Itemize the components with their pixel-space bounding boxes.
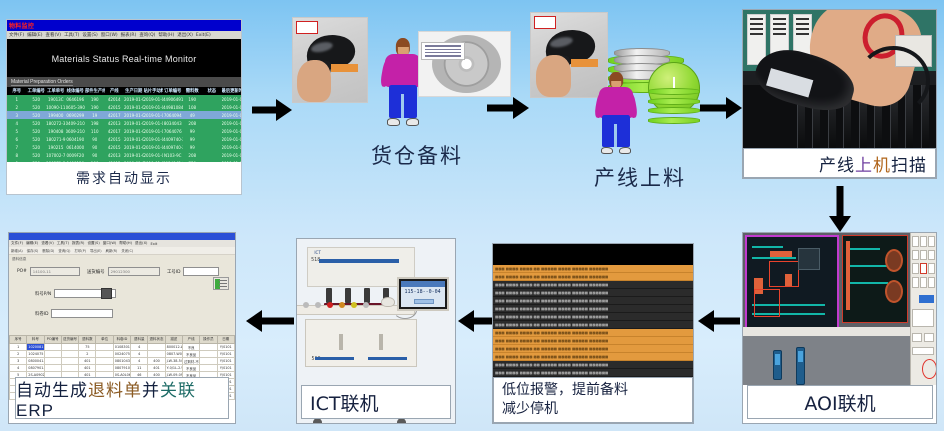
materials-cell-qty: 99 <box>183 143 203 151</box>
materials-cell-line: 0409-2100 <box>66 119 86 127</box>
aoi-caption: AOI联机 <box>747 385 933 419</box>
alarm-row-highlighted[interactable]: ▩▩▩ ▩▩▩▩ ▩▩▩▩ ▩▩ ▩▩▩▩▩ ▩▩▩▩ ▩▩▩▩▩ ▩▩▩▩▩▩ <box>493 329 693 337</box>
alarm-row[interactable]: ▩▩▩ ▩▩▩▩ ▩▩▩▩ ▩▩ ▩▩▩▩▩ ▩▩▩▩ ▩▩▩▩▩ ▩▩▩▩▩▩ <box>493 361 693 369</box>
materials-cell-qty: 750 <box>183 159 203 162</box>
erp-caption-part-4: ERP <box>16 401 54 420</box>
materials-col-11: 最后更新时间 <box>222 87 242 95</box>
erp-cell-10: 不良品 <box>182 351 199 358</box>
panel-demand-display: 物料监控 文件(F)编辑(E)查看(V)工具(T)设置(S)窗口(W)报表(R)… <box>6 19 242 195</box>
materials-table-row[interactable]: 6520180271-9060419090420152019-01-072019… <box>7 135 241 143</box>
materials-cell-line: 0614000 <box>66 143 86 151</box>
aoi-control-sidebar[interactable] <box>910 233 936 385</box>
erp-caption-part-2: 并 <box>142 381 160 400</box>
erp-cell-12: Y/0101 <box>217 351 234 358</box>
erp-cell-4: 75 <box>79 344 96 351</box>
materials-col-3: 线体编号 <box>66 87 86 95</box>
materials-cell-line: 0604190 <box>66 135 86 143</box>
materials-cell-ln: 42013 <box>105 119 125 127</box>
materials-cell-wo: 520 <box>27 103 47 111</box>
erp-menu-item-0[interactable]: 文件(F) <box>11 241 23 246</box>
monitor-menu-item-6[interactable]: 报表(R) <box>121 32 137 38</box>
materials-cell-ln: 42017 <box>105 111 125 119</box>
materials-cell-pn: 2019-01-08(19)W <box>144 159 164 162</box>
erp-menu-item-7[interactable]: 帮助(H) <box>119 241 132 246</box>
materials-cell-no: 6 <box>7 135 27 143</box>
erp-cell-5 <box>96 344 113 351</box>
materials-cell-no: 7 <box>7 143 27 151</box>
erp-menu-item-4[interactable]: 报表(R) <box>72 241 85 246</box>
erp-cell-1: 1020081 <box>27 344 44 351</box>
erp-cell-7: 4 <box>131 351 148 358</box>
barcode-label <box>571 59 598 67</box>
alarm-row[interactable]: ▩▩▩ ▩▩▩▩ ▩▩▩▩ ▩▩ ▩▩▩▩▩ ▩▩▩▩ ▩▩▩▩▩ ▩▩▩▩▩▩ <box>493 305 693 313</box>
monitor-menu-item-0[interactable]: 文件(F) <box>9 32 24 38</box>
erp-cell-8 <box>148 344 165 351</box>
erp-toolbar-button-0[interactable]: 新增(A) <box>11 248 23 253</box>
materials-cell-date: 2019-01-07 <box>124 103 144 111</box>
field-worker-id-input[interactable] <box>183 267 219 276</box>
erp-cell-6: 0807910 <box>113 365 130 372</box>
materials-cell-no: 5 <box>7 127 27 135</box>
erp-cell-2 <box>44 358 61 365</box>
line-feeding-caption: 产线上料 <box>570 162 710 192</box>
materials-table: 序号工单编号工单单号线体编号部件生产线产线生产日期贴片手动料号订单编号需料数状态… <box>7 87 241 162</box>
materials-cell-pn: 2019-01-07(18)K <box>144 143 164 151</box>
alarm-row-text: ▩▩▩ ▩▩▩▩ ▩▩▩▩ ▩▩ ▩▩▩▩▩ ▩▩▩▩ ▩▩▩▩▩ ▩▩▩▩▩▩ <box>493 355 608 359</box>
materials-cell-line: 0009F20 <box>66 151 86 159</box>
alarm-row[interactable]: ▩▩▩ ▩▩▩▩ ▩▩▩▩ ▩▩ ▩▩▩▩▩ ▩▩▩▩ ▩▩▩▩▩ ▩▩▩▩▩▩ <box>493 297 693 305</box>
erp-toolbar-button-4[interactable]: 打印(P) <box>75 248 86 253</box>
erp-col-10: 产线 <box>182 336 199 344</box>
erp-cell-2 <box>44 351 61 358</box>
materials-table-row[interactable]: 4520180272-30409-2100198420132019-01-082… <box>7 119 241 127</box>
materials-cell-line: 0690299 <box>66 111 86 119</box>
erp-table-row[interactable]: 30800041-7040740108010434400J-W-38-548过剩… <box>10 358 235 365</box>
erp-cell-8: 400 <box>148 358 165 365</box>
alarm-row[interactable]: ▩▩▩ ▩▩▩▩ ▩▩▩▩ ▩▩ ▩▩▩▩▩ ▩▩▩▩ ▩▩▩▩▩ ▩▩▩▩▩▩ <box>493 369 693 377</box>
erp-toolbar-button-6[interactable]: 刷新(R) <box>106 248 118 253</box>
materials-cell-wono: 107002-7 <box>46 151 66 159</box>
materials-cell-pn: 2019-01-08(9)W <box>144 119 164 127</box>
materials-table-row[interactable]: 7520190215061400090420152019-01-072019-0… <box>7 143 241 151</box>
field-po-label: PO# <box>17 269 27 274</box>
operator-hand <box>297 60 331 102</box>
alarm-row[interactable] <box>493 258 693 265</box>
erp-col-11: 操作员 <box>200 336 217 344</box>
erp-menu-item-3[interactable]: 工具(T) <box>57 241 69 246</box>
alarm-row[interactable]: ▩▩▩ ▩▩▩▩ ▩▩▩▩ ▩▩ ▩▩▩▩▩ ▩▩▩▩ ▩▩▩▩▩ ▩▩▩▩▩▩ <box>493 313 693 321</box>
materials-cell-order: 4409740-26-1 <box>163 135 183 143</box>
materials-cell-no: 3 <box>7 111 27 119</box>
erp-col-2: PO编号 <box>44 336 61 344</box>
materials-cell-order: 8034043-9 <box>163 159 183 162</box>
monitor-menu-item-9[interactable]: 退出(X) <box>177 32 193 38</box>
operator-hand <box>536 55 571 97</box>
materials-table-row[interactable]: 9520180271-30409130190420122019-01-08201… <box>7 159 241 162</box>
materials-cell-date: 2019-01-07 <box>124 127 144 135</box>
warehouse-prep-caption-text: 货仓备料 <box>371 144 463 168</box>
materials-cell-wo: 520 <box>27 95 47 103</box>
materials-cell-pline: 190 <box>85 95 105 103</box>
field-po-input[interactable]: 14100-11 <box>30 267 80 276</box>
erp-titlebar <box>9 233 235 240</box>
monitor-section-label: Material Preparation Orders <box>11 79 73 86</box>
erp-cell-12: Y/0101 <box>217 365 234 372</box>
materials-cell-qty: 208 <box>183 119 203 127</box>
materials-cell-wono: 19013C <box>46 95 66 103</box>
materials-table-row[interactable]: 252010090-110605-390190420152019-01-0720… <box>7 103 241 111</box>
materials-cell-ln: 42015 <box>105 103 125 111</box>
demand-display-caption: 需求自动显示 <box>7 162 241 194</box>
materials-col-5: 产线 <box>105 87 125 95</box>
ict-monitor-text: 115-18--0-04 <box>405 289 441 295</box>
materials-cell-qty: 108 <box>183 103 203 111</box>
materials-cell-order: 7064076 <box>163 127 183 135</box>
ict-caption-text: ICT联机 <box>310 389 378 416</box>
materials-col-1: 工单编号 <box>27 87 47 95</box>
ict-mouse <box>381 297 395 307</box>
field-reel-id-input[interactable] <box>51 309 113 318</box>
monitor-menu-item-2[interactable]: 查看(V) <box>45 32 61 38</box>
erp-form-area: 退料信息 PO# 14100-11 送货编号 29012300 工号ID 料号P… <box>9 255 235 335</box>
materials-cell-pn: 2019-01-07(19)C <box>144 135 164 143</box>
materials-cell-qty: 190 <box>183 95 203 103</box>
erp-cell-0: 3 <box>10 358 27 365</box>
materials-cell-wono: 180272-3 <box>46 119 66 127</box>
monitor-window-title: 物料监控 <box>9 21 34 30</box>
monitor-menu-item-4[interactable]: 设置(S) <box>82 32 97 38</box>
materials-cell-wo: 520 <box>27 151 47 159</box>
alarm-row-text: ▩▩▩ ▩▩▩▩ ▩▩▩▩ ▩▩ ▩▩▩▩▩ ▩▩▩▩ ▩▩▩▩▩ ▩▩▩▩▩▩ <box>493 267 608 271</box>
erp-cell-3 <box>61 351 78 358</box>
erp-menubar[interactable]: 文件(F)编辑(E)查看(V)工具(T)报表(R)设置(S)窗口(W)帮助(H)… <box>9 240 235 247</box>
field-part-number-label: 料号P/N <box>35 291 51 297</box>
materials-table-row[interactable]: 3520199400069029919420172019-01-072019-0… <box>7 111 241 119</box>
erp-toolbar-button-3[interactable]: 查询(Q) <box>58 248 70 253</box>
materials-cell-pline: 110 <box>85 127 105 135</box>
erp-table-row[interactable]: 40807901-W14-33401080791011401Y-0/1L-2-W… <box>10 365 235 372</box>
erp-toolbar-button-1[interactable]: 保存(S) <box>27 248 39 253</box>
alarm-row-highlighted[interactable]: ▩▩▩ ▩▩▩▩ ▩▩▩▩ ▩▩ ▩▩▩▩▩ ▩▩▩▩ ▩▩▩▩▩ ▩▩▩▩▩▩ <box>493 265 693 273</box>
panel-aoi: AOI联机 <box>742 232 937 424</box>
line-scan-caption-part-3: 扫描 <box>891 156 927 176</box>
materials-table-header-row: 序号工单编号工单单号线体编号部件生产线产线生产日期贴片手动料号订单编号需料数状态… <box>7 87 241 95</box>
materials-cell-pline: 190 <box>85 159 105 162</box>
erp-cell-9: 800012-W01-048 <box>165 344 182 351</box>
scanner-cord <box>857 46 931 115</box>
alarm-caption-line2: 减少停机 <box>502 400 558 419</box>
materials-cell-upd: 2019-01-07 15:24:45 <box>222 119 242 127</box>
line-scan-caption-part-1: 上 <box>855 156 873 176</box>
monitor-menubar[interactable]: 文件(F)编辑(E)查看(V)工具(T)设置(S)窗口(W)报表(R)查询(Q)… <box>7 31 241 39</box>
materials-table-row[interactable]: 152019013C0646196190420142019-01-072019-… <box>7 95 241 103</box>
materials-col-8: 订单编号 <box>163 87 183 95</box>
field-worker-id-label: 工号ID <box>167 269 180 275</box>
monitor-menu-item-7[interactable]: 查询(Q) <box>139 32 155 38</box>
materials-cell-st <box>202 143 222 151</box>
materials-cell-ln: 42017 <box>105 127 125 135</box>
materials-cell-date: 2019-01-07 <box>124 135 144 143</box>
monitor-board-title: Materials Status Real-time Monitor <box>7 39 241 64</box>
materials-cell-pline: 90 <box>85 143 105 151</box>
materials-cell-date: 2019-01-07 <box>124 143 144 151</box>
alarm-row-text: ▩▩▩ ▩▩▩▩ ▩▩▩▩ ▩▩ ▩▩▩▩▩ ▩▩▩▩ ▩▩▩▩▩ ▩▩▩▩▩▩ <box>493 371 608 375</box>
field-reel-id-label: 料卷ID <box>35 311 48 317</box>
monitor-menu-item-3[interactable]: 工具(T) <box>64 32 79 38</box>
materials-cell-qty: 99 <box>183 135 203 143</box>
alarm-row-text: ▩▩▩ ▩▩▩▩ ▩▩▩▩ ▩▩ ▩▩▩▩▩ ▩▩▩▩ ▩▩▩▩▩ ▩▩▩▩▩▩ <box>493 275 608 279</box>
alarm-row-text: ▩▩▩ ▩▩▩▩ ▩▩▩▩ ▩▩ ▩▩▩▩▩ ▩▩▩▩ ▩▩▩▩▩ ▩▩▩▩▩▩ <box>493 307 608 311</box>
erp-col-9: 描述 <box>165 336 182 344</box>
materials-cell-qty: 99 <box>183 127 203 135</box>
aoi-caption-text: AOI联机 <box>804 389 875 416</box>
field-worker-id[interactable]: 工号ID <box>167 267 219 276</box>
materials-cell-wono: 190215 <box>46 143 66 151</box>
materials-cell-st <box>202 127 222 135</box>
materials-cell-wono: 180271-9 <box>46 135 66 143</box>
erp-menu-item-5[interactable]: 设置(S) <box>87 241 99 246</box>
materials-table-row[interactable]: 55201904080609-2100110420172019-01-07201… <box>7 127 241 135</box>
erp-toolbar-button-7[interactable]: 关闭(C) <box>121 248 133 253</box>
alarm-row[interactable]: ▩▩▩ ▩▩▩▩ ▩▩▩▩ ▩▩ ▩▩▩▩▩ ▩▩▩▩ ▩▩▩▩▩ ▩▩▩▩▩▩ <box>493 289 693 297</box>
monitor-menu-item-8[interactable]: 帮助(H) <box>158 32 174 38</box>
erp-col-0: 序号 <box>10 336 27 344</box>
erp-cell-11 <box>200 344 217 351</box>
materials-cell-st <box>202 151 222 159</box>
materials-cell-no: 4 <box>7 119 27 127</box>
alarm-row-text: ▩▩▩ ▩▩▩▩ ▩▩▩▩ ▩▩ ▩▩▩▩▩ ▩▩▩▩ ▩▩▩▩▩ ▩▩▩▩▩▩ <box>493 291 608 295</box>
materials-cell-ln: 42015 <box>105 143 125 151</box>
line-scan-caption-part-0: 产线 <box>819 156 855 176</box>
erp-col-3: 送货编号 <box>61 336 78 344</box>
highlight-ellipse <box>922 359 937 379</box>
reel-label <box>421 42 465 59</box>
erp-toolbar[interactable]: 新增(A)保存(S)删除(D)查询(Q)打印(P)导出(E)刷新(R)关闭(C) <box>9 247 235 255</box>
erp-table-row[interactable]: 210240752002407540807-W05不良品Y/0101 <box>10 351 235 358</box>
erp-menu-item-6[interactable]: 窗口(W) <box>103 241 117 246</box>
line-scan-caption: 产线上机扫描 <box>743 148 936 178</box>
barcode-label <box>331 64 358 72</box>
erp-cell-0: 4 <box>10 365 27 372</box>
materials-cell-ln: 42014 <box>105 95 125 103</box>
materials-cell-no: 8 <box>7 151 27 159</box>
alarm-row-text: ▩▩▩ ▩▩▩▩ ▩▩▩▩ ▩▩ ▩▩▩▩▩ ▩▩▩▩ ▩▩▩▩▩ ▩▩▩▩▩▩ <box>493 331 608 335</box>
monitor-menu-item-10[interactable]: Exit(E) <box>196 33 211 38</box>
materials-cell-st <box>202 159 222 162</box>
materials-col-0: 序号 <box>7 87 27 95</box>
materials-cell-wo: 520 <box>27 127 47 135</box>
materials-cell-ln: 42015 <box>105 135 125 143</box>
erp-toolbar-button-2[interactable]: 删除(D) <box>42 248 54 253</box>
erp-caption-part-0: 自动生成 <box>16 381 88 400</box>
materials-cell-no: 2 <box>7 103 27 111</box>
erp-menu-item-8[interactable]: 退出(X) <box>135 241 147 246</box>
materials-cell-qty: 208 <box>183 151 203 159</box>
materials-cell-ln: 42012 <box>105 159 125 162</box>
materials-cell-pn: 2019-01-07(16) <box>144 127 164 135</box>
erp-col-7: 退料量 <box>131 336 148 344</box>
part-number-lookup-button[interactable] <box>101 288 112 299</box>
materials-cell-wo: 520 <box>27 111 47 119</box>
materials-cell-pn: 2019-01-08(17)(9) <box>144 151 164 159</box>
erp-col-4: 退料数 <box>79 336 96 344</box>
ict-machine-brand: ICT <box>314 250 320 255</box>
erp-cell-0: 1 <box>10 344 27 351</box>
alarm-row-text: ▩▩▩ ▩▩▩▩ ▩▩▩▩ ▩▩ ▩▩▩▩▩ ▩▩▩▩ ▩▩▩▩▩ ▩▩▩▩▩▩ <box>493 315 608 319</box>
erp-cell-2 <box>44 344 61 351</box>
erp-cell-6: 0801043 <box>113 358 130 365</box>
alarm-row-highlighted[interactable]: ▩▩▩ ▩▩▩▩ ▩▩▩▩ ▩▩ ▩▩▩▩▩ ▩▩▩▩ ▩▩▩▩▩ ▩▩▩▩▩▩ <box>493 353 693 361</box>
materials-col-10: 状态 <box>202 87 222 95</box>
erp-cell-12: Y/0101 <box>217 344 234 351</box>
materials-cell-order: 4490649156-1 <box>163 95 183 103</box>
materials-table-body: 152019013C0646196190420142019-01-072019-… <box>7 95 241 162</box>
line-scan-photo <box>743 10 936 148</box>
materials-cell-upd: 2019-01-07 14:19:45 <box>222 143 242 151</box>
materials-cell-ln: 42013 <box>105 151 125 159</box>
erp-caption-part-1: 退料单 <box>88 381 142 400</box>
materials-col-6: 生产日期 <box>124 87 144 95</box>
erp-cell-10: 不良 <box>182 344 199 351</box>
field-reel-id[interactable]: 料卷ID <box>35 309 113 318</box>
erp-cell-11 <box>200 351 217 358</box>
erp-menu-item-9[interactable]: Exit <box>150 242 157 246</box>
alarm-row[interactable] <box>493 244 693 251</box>
green-coin-stack <box>648 88 700 132</box>
arrow-down-scan-to-aoi <box>825 186 855 232</box>
warehouse-prep-caption: 货仓备料 <box>352 140 482 170</box>
arrow-left-aoi-to-alarm <box>698 310 740 332</box>
erp-cell-11 <box>200 365 217 372</box>
materials-cell-st <box>202 95 222 103</box>
materials-col-4: 部件生产线 <box>85 87 105 95</box>
erp-cell-11 <box>200 358 217 365</box>
component-reel-photo <box>418 31 511 97</box>
field-delivery-no[interactable]: 送货编号 29012300 <box>87 267 160 276</box>
panel-low-stock-alarm: ▩▩▩ ▩▩▩▩ ▩▩▩▩ ▩▩ ▩▩▩▩▩ ▩▩▩▩ ▩▩▩▩▩ ▩▩▩▩▩▩… <box>492 243 694 424</box>
low-stock-alarm-caption: 低位报警，提前备料 减少停机 <box>493 377 693 423</box>
materials-cell-no: 1 <box>7 95 27 103</box>
erp-col-12: 日期 <box>217 336 234 344</box>
erp-cell-1: 0800041-70407 <box>27 358 44 365</box>
materials-col-9: 需料数 <box>183 87 203 95</box>
line-feeding-caption-text: 产线上料 <box>594 166 686 190</box>
materials-cell-date: 2019-01-07 <box>124 95 144 103</box>
erp-table-row[interactable]: 110200817501083014800012-W01-048不良Y/0101 <box>10 344 235 351</box>
erp-caption: 自动生成退料单并关联ERP <box>15 377 229 419</box>
materials-cell-date: 2019-01-08 <box>124 151 144 159</box>
ict-caption: ICT联机 <box>301 385 451 419</box>
monitor-menu-item-5[interactable]: 窗口(W) <box>101 32 118 38</box>
erp-cell-0: 2 <box>10 351 27 358</box>
alarm-row-highlighted[interactable]: ▩▩▩ ▩▩▩▩ ▩▩▩▩ ▩▩ ▩▩▩▩▩ ▩▩▩▩ ▩▩▩▩▩ ▩▩▩▩▩▩ <box>493 345 693 353</box>
materials-cell-st <box>202 119 222 127</box>
low-stock-alarm-table: ▩▩▩ ▩▩▩▩ ▩▩▩▩ ▩▩ ▩▩▩▩▩ ▩▩▩▩ ▩▩▩▩▩ ▩▩▩▩▩▩… <box>493 244 693 377</box>
pcb-image-left <box>745 235 840 332</box>
erp-cell-3 <box>61 358 78 365</box>
alarm-row-text: ▩▩▩ ▩▩▩▩ ▩▩▩▩ ▩▩ ▩▩▩▩▩ ▩▩▩▩ ▩▩▩▩▩ ▩▩▩▩▩▩ <box>493 323 608 327</box>
erp-cell-5 <box>96 358 113 365</box>
warehouse-scanner-photo <box>292 17 368 103</box>
erp-cell-8: 401 <box>148 365 165 372</box>
pcb-image-right <box>842 235 908 323</box>
erp-cell-4: 2 <box>79 351 96 358</box>
materials-cell-order: 4498108486-1 <box>163 103 183 111</box>
erp-cell-12: Y/0101 <box>217 358 234 365</box>
materials-cell-wono: 10090-11 <box>46 103 66 111</box>
alarm-row[interactable] <box>493 251 693 258</box>
save-disk-icon[interactable] <box>213 277 229 290</box>
erp-cell-5 <box>96 365 113 372</box>
alarm-row-text: ▩▩▩ ▩▩▩▩ ▩▩▩▩ ▩▩ ▩▩▩▩▩ ▩▩▩▩ ▩▩▩▩▩ ▩▩▩▩▩▩ <box>493 339 608 343</box>
materials-cell-wo: 520 <box>27 143 47 151</box>
erp-cell-7: 11 <box>131 365 148 372</box>
erp-cell-9: 0807-W05 <box>165 351 182 358</box>
materials-table-row[interactable]: 8520107002-70009F2090420132019-01-082019… <box>7 151 241 159</box>
erp-menu-item-2[interactable]: 查看(V) <box>41 241 53 246</box>
materials-col-2: 工单单号 <box>46 87 66 95</box>
erp-cell-3 <box>61 365 78 372</box>
erp-cell-6: 0108301 <box>113 344 130 351</box>
materials-cell-upd: 2019-01-07 14:19:45 <box>222 135 242 143</box>
materials-cell-order: N103-9C <box>163 151 183 159</box>
erp-cell-6: 0024075 <box>113 351 130 358</box>
ict-monitor-button[interactable] <box>414 299 433 305</box>
erp-toolbar-button-5[interactable]: 导出(E) <box>90 248 102 253</box>
materials-cell-qty: 49 <box>183 111 203 119</box>
erp-cell-4: 401 <box>79 365 96 372</box>
erp-cell-9: Y-0/1L-2-W-09-1-W-048 <box>165 365 182 372</box>
materials-cell-line: 0609-2100 <box>66 127 86 135</box>
panel-ict: ICT 518 518 115-18--0-04 ICT联 <box>296 238 456 424</box>
erp-col-5: 单位 <box>96 336 113 344</box>
materials-cell-wono: 180271-3 <box>46 159 66 162</box>
monitor-section-bar: Material Preparation Orders <box>7 77 241 87</box>
erp-cell-2 <box>44 365 61 372</box>
monitor-board: Materials Status Real-time Monitor Mater… <box>7 39 241 162</box>
erp-col-1: 料号 <box>27 336 44 344</box>
materials-cell-wo: 520 <box>27 159 47 162</box>
materials-cell-wono: 190408 <box>46 127 66 135</box>
erp-menu-item-1[interactable]: 编辑(E) <box>26 241 38 246</box>
alarm-row[interactable]: ▩▩▩ ▩▩▩▩ ▩▩▩▩ ▩▩ ▩▩▩▩▩ ▩▩▩▩ ▩▩▩▩▩ ▩▩▩▩▩▩ <box>493 281 693 289</box>
materials-cell-st <box>202 103 222 111</box>
materials-cell-date: 2019-01-07 <box>124 111 144 119</box>
alarm-row-highlighted[interactable]: ▩▩▩ ▩▩▩▩ ▩▩▩▩ ▩▩ ▩▩▩▩▩ ▩▩▩▩ ▩▩▩▩▩ ▩▩▩▩▩▩ <box>493 337 693 345</box>
field-delivery-no-input[interactable]: 29012300 <box>108 267 160 276</box>
panel-erp-return: 文件(F)编辑(E)查看(V)工具(T)报表(R)设置(S)窗口(W)帮助(H)… <box>8 232 236 424</box>
materials-cell-st <box>202 135 222 143</box>
arrow-left-ict-to-erp <box>246 310 294 332</box>
materials-cell-order: 8034043 <box>163 119 183 127</box>
erp-cell-3 <box>61 344 78 351</box>
materials-cell-line: 0605-390 <box>66 103 86 111</box>
ict-indicator-lights <box>303 302 373 308</box>
materials-cell-pn: 2019-01-07(11)N <box>144 111 164 119</box>
monitor-menu-item-1[interactable]: 编辑(E) <box>27 32 42 38</box>
ict-cabinet: 518 <box>305 319 417 367</box>
materials-cell-pn: 2019-01-07(X)K <box>144 103 164 111</box>
materials-cell-no: 9 <box>7 159 27 162</box>
materials-cell-line: 0646196 <box>66 95 86 103</box>
materials-cell-order: 7064094 <box>163 111 183 119</box>
alarm-row[interactable]: ▩▩▩ ▩▩▩▩ ▩▩▩▩ ▩▩ ▩▩▩▩▩ ▩▩▩▩ ▩▩▩▩▩ ▩▩▩▩▩▩ <box>493 321 693 329</box>
alarm-row-highlighted[interactable]: ▩▩▩ ▩▩▩▩ ▩▩▩▩ ▩▩ ▩▩▩▩▩ ▩▩▩▩ ▩▩▩▩▩ ▩▩▩▩▩▩ <box>493 273 693 281</box>
field-po[interactable]: PO# 14100-11 <box>17 267 80 276</box>
erp-cell-10: 不良品 <box>182 365 199 372</box>
erp-cell-7: 4 <box>131 358 148 365</box>
erp-cell-9: J-W-38-548 <box>165 358 182 365</box>
